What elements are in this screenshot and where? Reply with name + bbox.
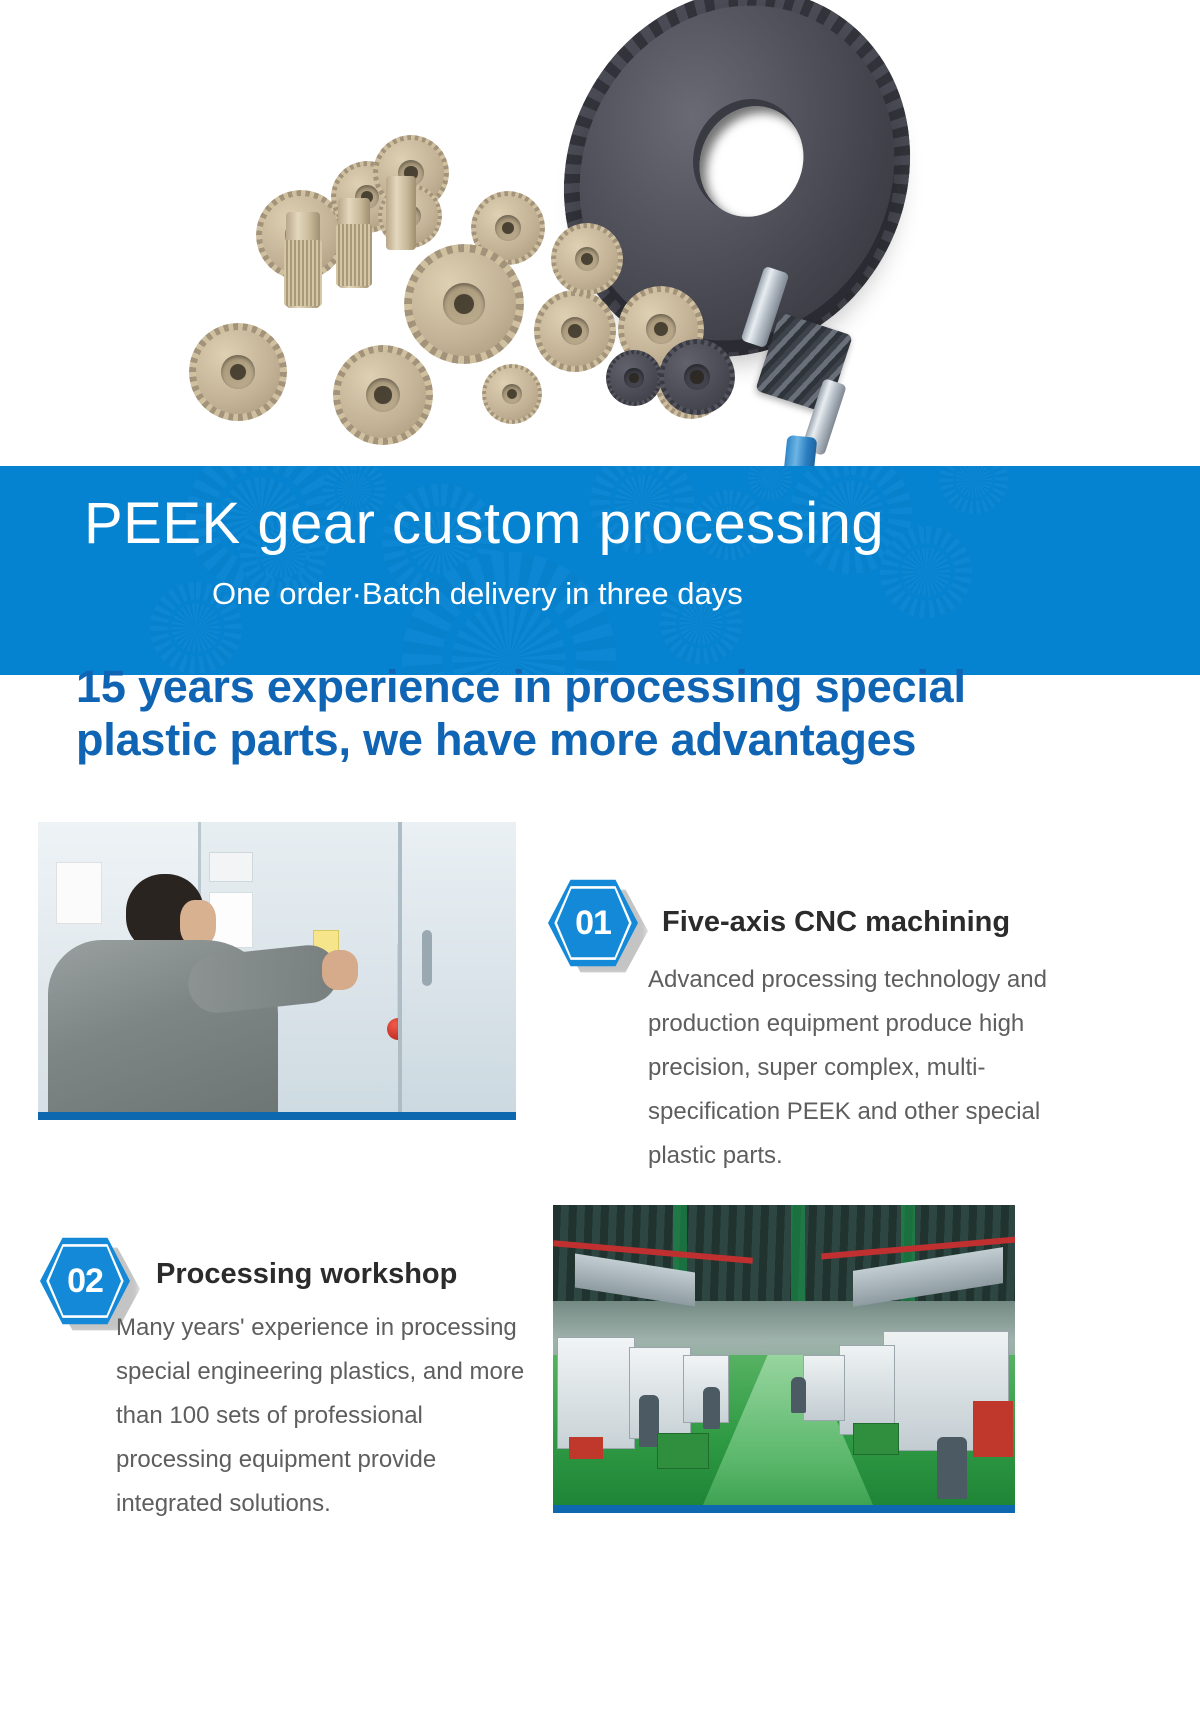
section-headline: 15 years experience in processing specia… <box>76 660 1096 766</box>
feature-01-photo-frame <box>38 822 516 1120</box>
dark-gear-icon <box>610 354 658 402</box>
feature-02-body: Many years' experience in processing spe… <box>116 1306 536 1526</box>
feature-02-photo-frame <box>553 1205 1015 1513</box>
peek-gear-icon <box>540 296 610 366</box>
peek-gear-icon <box>556 228 618 290</box>
hero-gear-photo <box>0 0 1200 470</box>
feature-01-number: 01 <box>548 878 638 968</box>
workshop-photo <box>553 1205 1015 1505</box>
cnc-operator-photo <box>38 822 516 1112</box>
peek-gear-icon <box>340 352 426 438</box>
hero-banner: PEEK gear custom processing One order·Ba… <box>0 466 1200 675</box>
feature-01-body: Advanced processing technology and produ… <box>648 958 1096 1178</box>
peek-pinion-teeth-icon <box>336 224 372 286</box>
peek-gear-icon <box>486 368 538 420</box>
product-detail-page: PEEK gear custom processing One order·Ba… <box>0 0 1200 1732</box>
banner-title: PEEK gear custom processing <box>84 490 884 557</box>
large-dark-gear-icon <box>578 8 896 338</box>
dark-gear-icon <box>664 344 730 410</box>
feature-01-title: Five-axis CNC machining <box>662 906 1010 939</box>
banner-subtitle: One order·Batch delivery in three days <box>212 576 743 612</box>
peek-gear-icon <box>196 330 280 414</box>
peek-pinion-teeth-icon <box>284 240 322 306</box>
peek-pinion-shaft-icon <box>386 176 416 250</box>
peek-gear-icon <box>412 252 516 356</box>
blue-rod-icon <box>769 435 818 470</box>
feature-01-number-badge: 01 <box>548 878 638 968</box>
feature-02-title: Processing workshop <box>156 1258 457 1291</box>
